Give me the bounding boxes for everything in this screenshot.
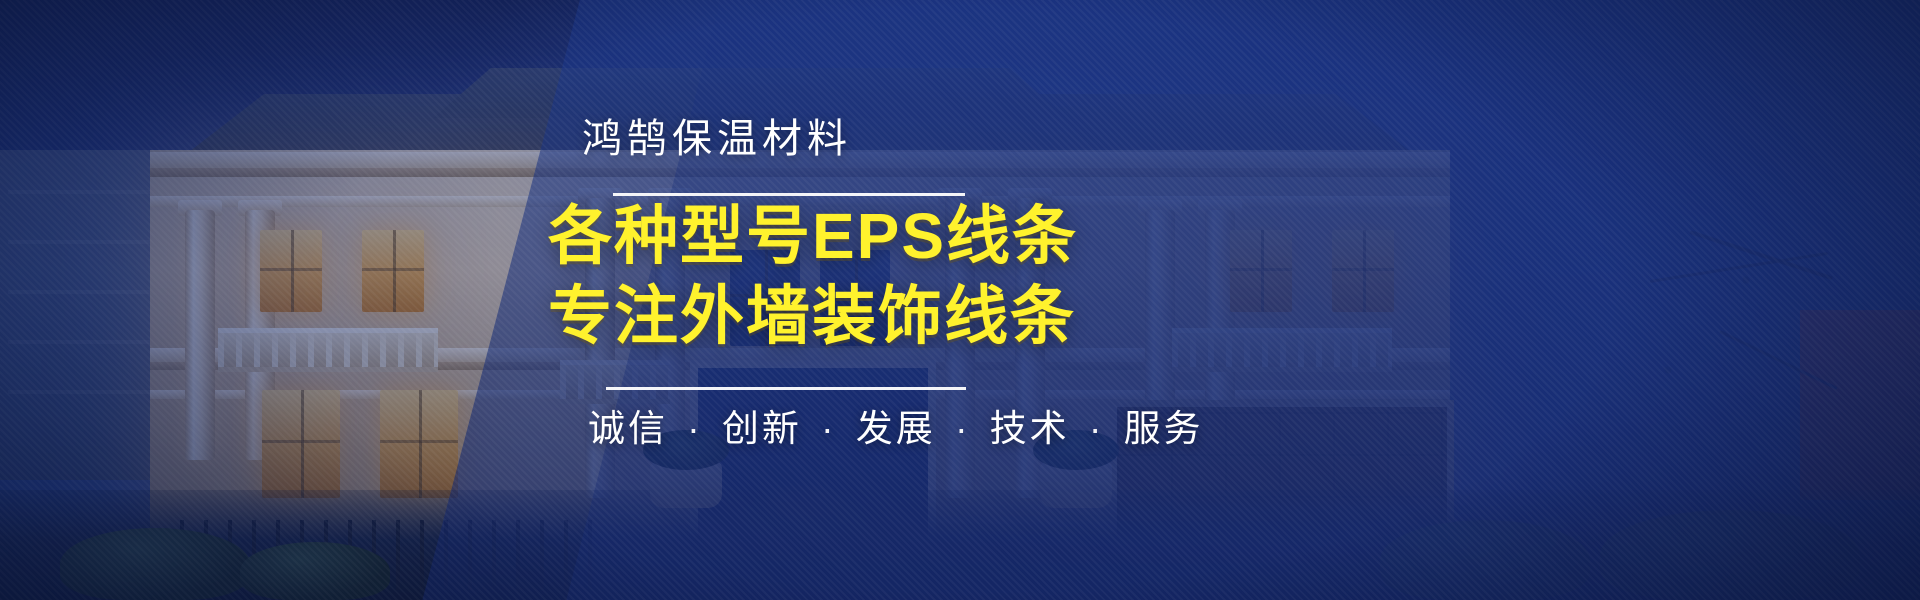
tagline-separator: ·: [949, 408, 976, 449]
headline-line-1: 各种型号EPS线条: [548, 200, 1078, 272]
tagline-separator: ·: [681, 408, 708, 449]
tagline-item-4: 服务: [1124, 408, 1204, 449]
banner-copy: 鸿鹄保温材料 各种型号EPS线条 专注外墙装饰线条 诚信 · 创新 · 发展 ·…: [0, 0, 1920, 600]
tagline: 诚信 · 创新 · 发展 · 技术 · 服务: [588, 398, 1204, 452]
hero-banner: 鸿鹄保温材料 各种型号EPS线条 专注外墙装饰线条 诚信 · 创新 · 发展 ·…: [0, 0, 1920, 600]
tagline-item-2: 发展: [856, 408, 936, 449]
tagline-separator: ·: [815, 408, 842, 449]
tagline-item-0: 诚信: [588, 408, 668, 449]
brand-name: 鸿鹄保温材料: [582, 106, 852, 164]
tagline-item-1: 创新: [722, 408, 802, 449]
divider-bottom: [606, 387, 966, 390]
tagline-separator: ·: [1083, 408, 1110, 449]
tagline-item-3: 技术: [990, 408, 1070, 449]
headline: 各种型号EPS线条 专注外墙装饰线条: [548, 196, 1078, 356]
headline-line-2: 专注外墙装饰线条: [548, 276, 1078, 356]
